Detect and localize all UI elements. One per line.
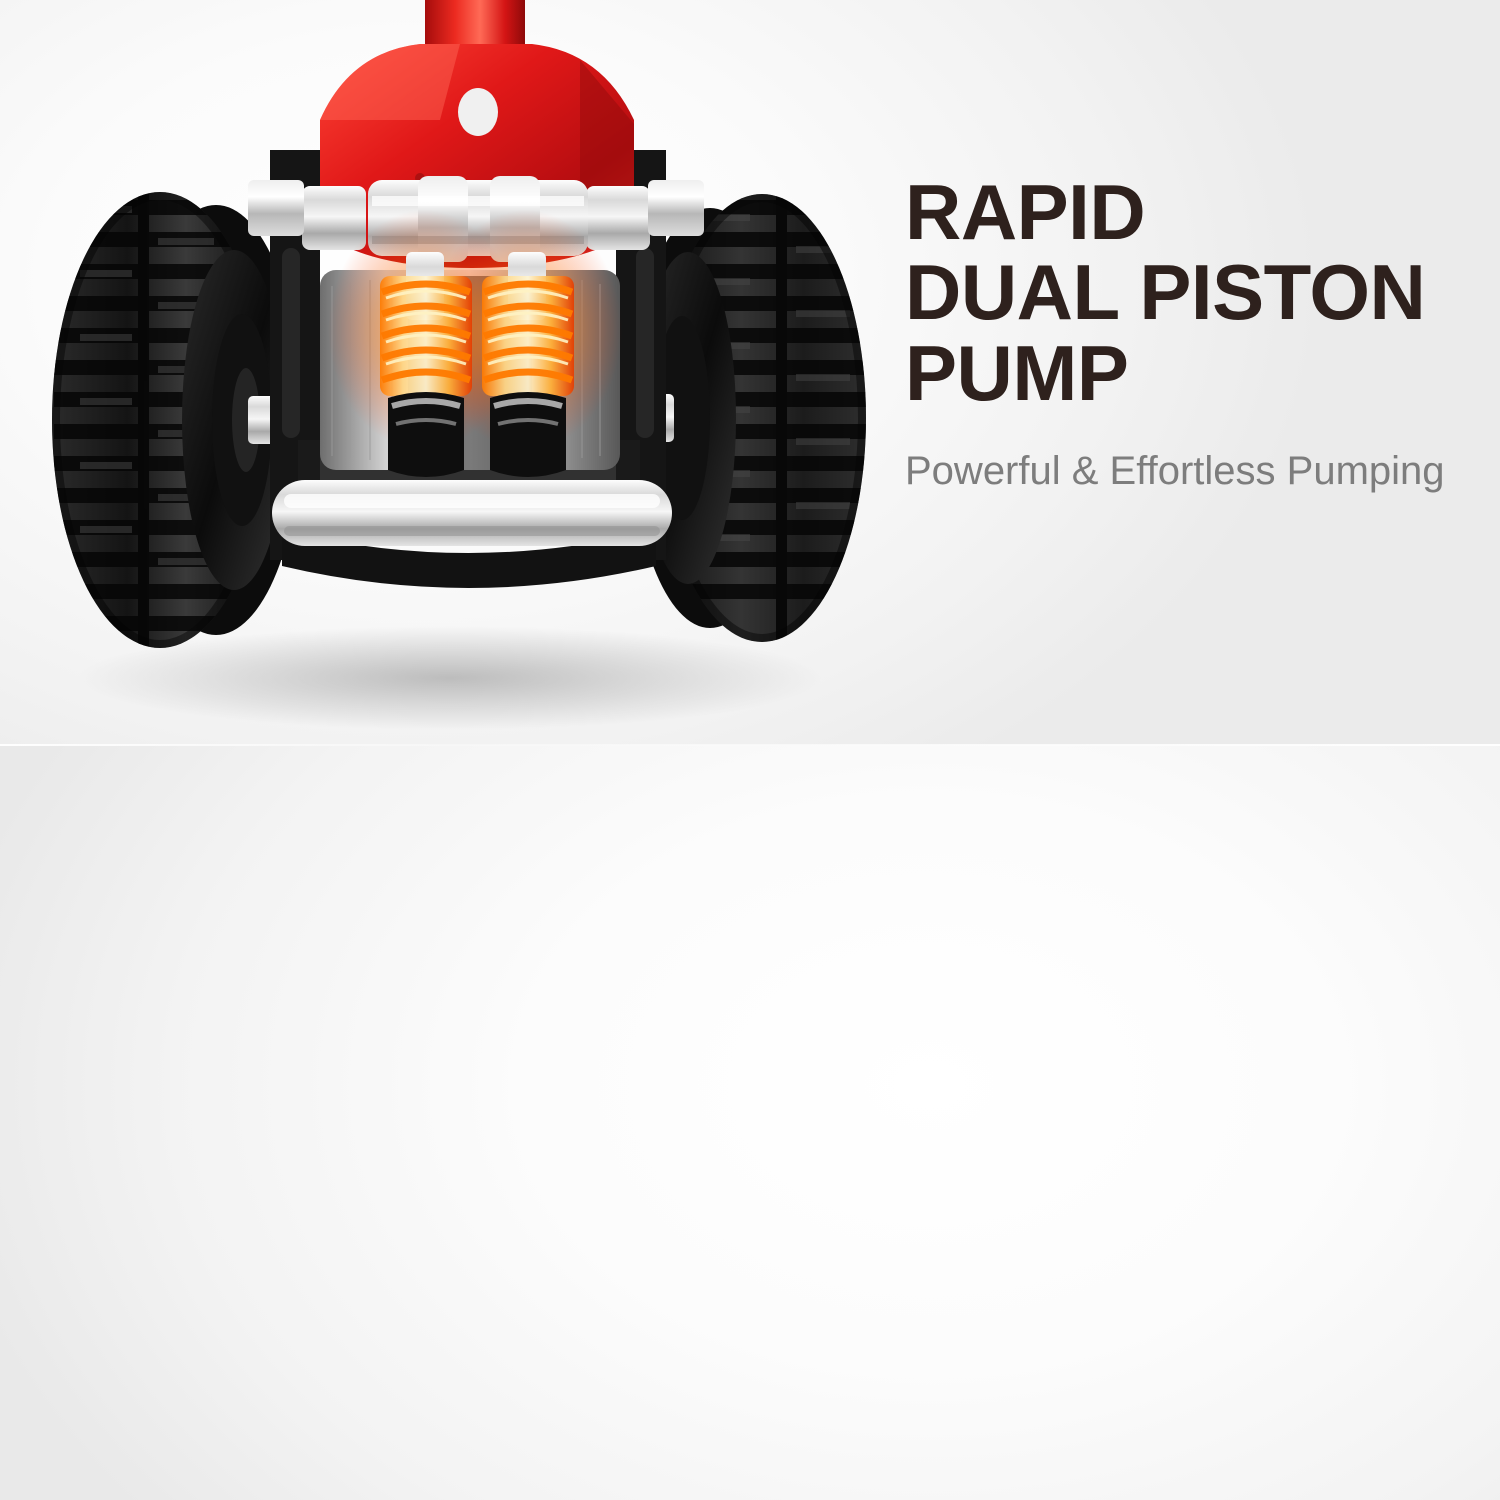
chrome-cross-bar xyxy=(272,480,672,546)
hex-bolt-right xyxy=(648,180,704,236)
top-headline-line-3: PUMP xyxy=(905,333,1465,413)
spring-left xyxy=(380,276,472,396)
top-subline: Powerful & Effortless Pumping xyxy=(905,447,1465,495)
panel-divider xyxy=(0,744,1500,746)
top-panel-text-block: RAPID DUAL PISTON PUMP Powerful & Effort… xyxy=(905,172,1465,495)
top-headline: RAPID DUAL PISTON PUMP xyxy=(905,172,1465,413)
dual-piston-pump-photo xyxy=(20,0,900,745)
product-feature-graphic: RAPID DUAL PISTON PUMP Powerful & Effort… xyxy=(0,0,1500,1500)
top-headline-line-1: RAPID xyxy=(905,172,1465,252)
top-headline-line-2: DUAL PISTON xyxy=(905,252,1465,332)
top-feature-panel: RAPID DUAL PISTON PUMP Powerful & Effort… xyxy=(0,0,1500,745)
bottom-feature-panel: 27.4 inch or 695 mm MAX Height (with ext… xyxy=(0,745,1500,1500)
yoke-hole xyxy=(458,88,498,136)
spring-right xyxy=(482,276,574,396)
ground-shadow xyxy=(78,626,822,730)
hex-bolt-left xyxy=(248,180,304,236)
